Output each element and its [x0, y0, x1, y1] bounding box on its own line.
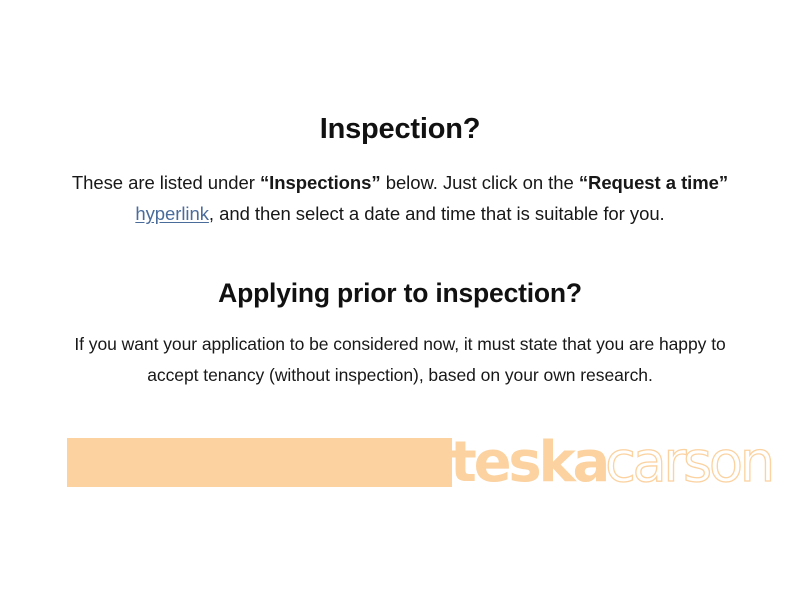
body-text-part-3: , and then select a date and time that i…: [209, 203, 665, 224]
logo-wordmark: teskacarson: [450, 432, 772, 494]
section-body-inspection: These are listed under “Inspections” bel…: [62, 167, 738, 229]
body-text-part-1: These are listed under: [72, 172, 260, 193]
section-heading-applying-prior: Applying prior to inspection?: [0, 278, 800, 308]
section-body-applying-prior: If you want your application to be consi…: [62, 329, 738, 391]
body-text-part-2: below. Just click on the: [381, 172, 579, 193]
footer-logo: teskacarson: [67, 438, 737, 488]
body-text-bold-inspections: “Inspections”: [260, 172, 381, 193]
logo-text-carson: carson: [605, 430, 772, 495]
body-text-applying-prior: If you want your application to be consi…: [74, 334, 725, 385]
logo-text-teska: teska: [450, 430, 607, 495]
section-heading-inspection: Inspection?: [0, 113, 800, 146]
body-text-bold-request-a-time: “Request a time”: [579, 172, 728, 193]
hyperlink-link[interactable]: hyperlink: [135, 203, 209, 224]
slide-canvas: Inspection? These are listed under “Insp…: [0, 0, 800, 600]
logo-accent-bar: [67, 438, 452, 487]
